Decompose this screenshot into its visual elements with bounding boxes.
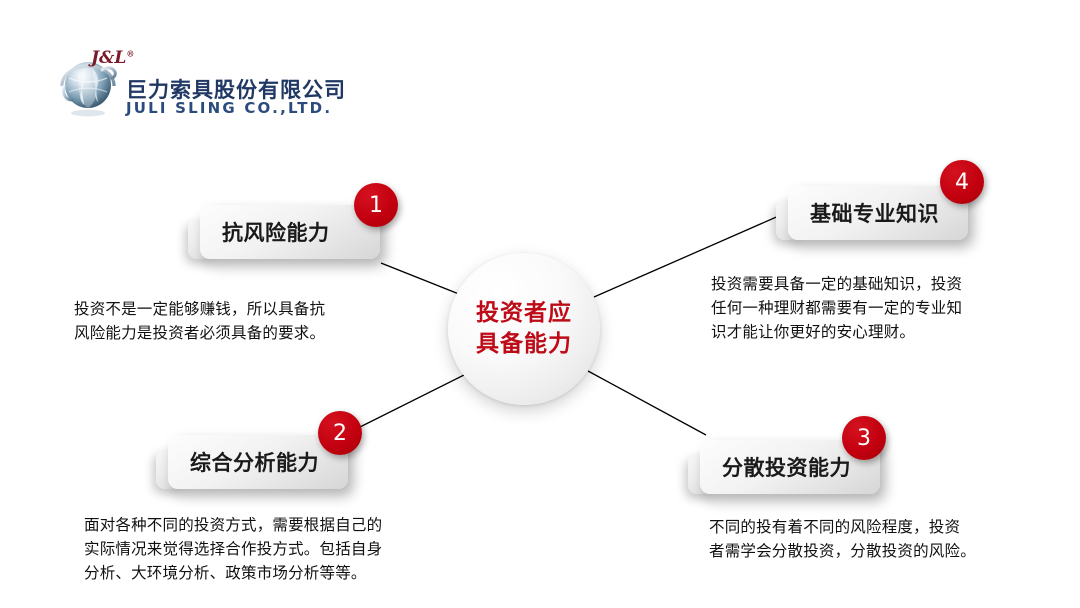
connector-hub-to-node-2 (350, 372, 470, 432)
registered-mark: ® (126, 48, 134, 58)
node-1-desc-line-2: 风险能力是投资者必须具备的要求。 (74, 321, 325, 345)
node-2-label: 综合分析能力 (168, 447, 319, 477)
node-2-badge: 2 (318, 411, 362, 455)
node-1-label: 抗风险能力 (200, 217, 330, 247)
node-2[interactable]: 综合分析能力 2 (168, 435, 348, 489)
node-4-desc-line-3: 识才能让你更好的安心理财。 (711, 320, 962, 344)
node-3-desc-line-1: 不同的投有着不同的风险程度，投资 (709, 515, 976, 539)
node-2-desc-line-3: 分析、大环境分析、政策市场分析等等。 (84, 561, 382, 585)
node-4-desc-line-1: 投资需要具备一定的基础知识，投资 (711, 272, 962, 296)
company-name-en: JULI SLING CO.,LTD. (126, 99, 332, 117)
node-3-description: 不同的投有着不同的风险程度，投资 者需学会分散投资，分散投资的风险。 (709, 515, 976, 563)
node-3-desc-line-2: 者需学会分散投资，分散投资的风险。 (709, 539, 976, 563)
company-logo: J&L® 巨力索具股份有限公司 JULI SLING CO.,LTD. (58, 48, 358, 123)
node-1-badge: 1 (354, 183, 398, 227)
node-4[interactable]: 基础专业知识 4 (788, 186, 968, 240)
node-4-description: 投资需要具备一定的基础知识，投资 任何一种理财都需要有一定的专业知 识才能让你更… (711, 272, 962, 344)
node-2-desc-line-2: 实际情况来觉得选择合作投方式。包括自身 (84, 537, 382, 561)
node-4-badge: 4 (940, 160, 984, 204)
node-2-description: 面对各种不同的投资方式，需要根据自己的 实际情况来觉得选择合作投方式。包括自身 … (84, 513, 382, 585)
node-2-desc-line-1: 面对各种不同的投资方式，需要根据自己的 (84, 513, 382, 537)
node-4-label: 基础专业知识 (788, 198, 939, 228)
node-3[interactable]: 分散投资能力 3 (700, 440, 880, 494)
node-1[interactable]: 抗风险能力 1 (200, 205, 380, 259)
connector-hub-to-node-3 (588, 371, 706, 435)
node-1-box[interactable]: 抗风险能力 (200, 205, 380, 259)
node-1-desc-line-1: 投资不是一定能够赚钱，所以具备抗 (74, 297, 325, 321)
node-3-badge: 3 (842, 416, 886, 460)
logo-jl-letters: J&L (91, 48, 126, 68)
node-4-desc-line-2: 任何一种理财都需要有一定的专业知 (711, 296, 962, 320)
center-hub: 投资者应 具备能力 (448, 253, 600, 405)
node-1-description: 投资不是一定能够赚钱，所以具备抗 风险能力是投资者必须具备的要求。 (74, 297, 325, 345)
hub-title-line-1: 投资者应 (476, 298, 572, 329)
node-3-label: 分散投资能力 (700, 452, 851, 482)
node-4-box[interactable]: 基础专业知识 (788, 186, 968, 240)
hub-title-line-2: 具备能力 (476, 329, 572, 360)
logo-mark-text: J&L® (91, 48, 134, 68)
